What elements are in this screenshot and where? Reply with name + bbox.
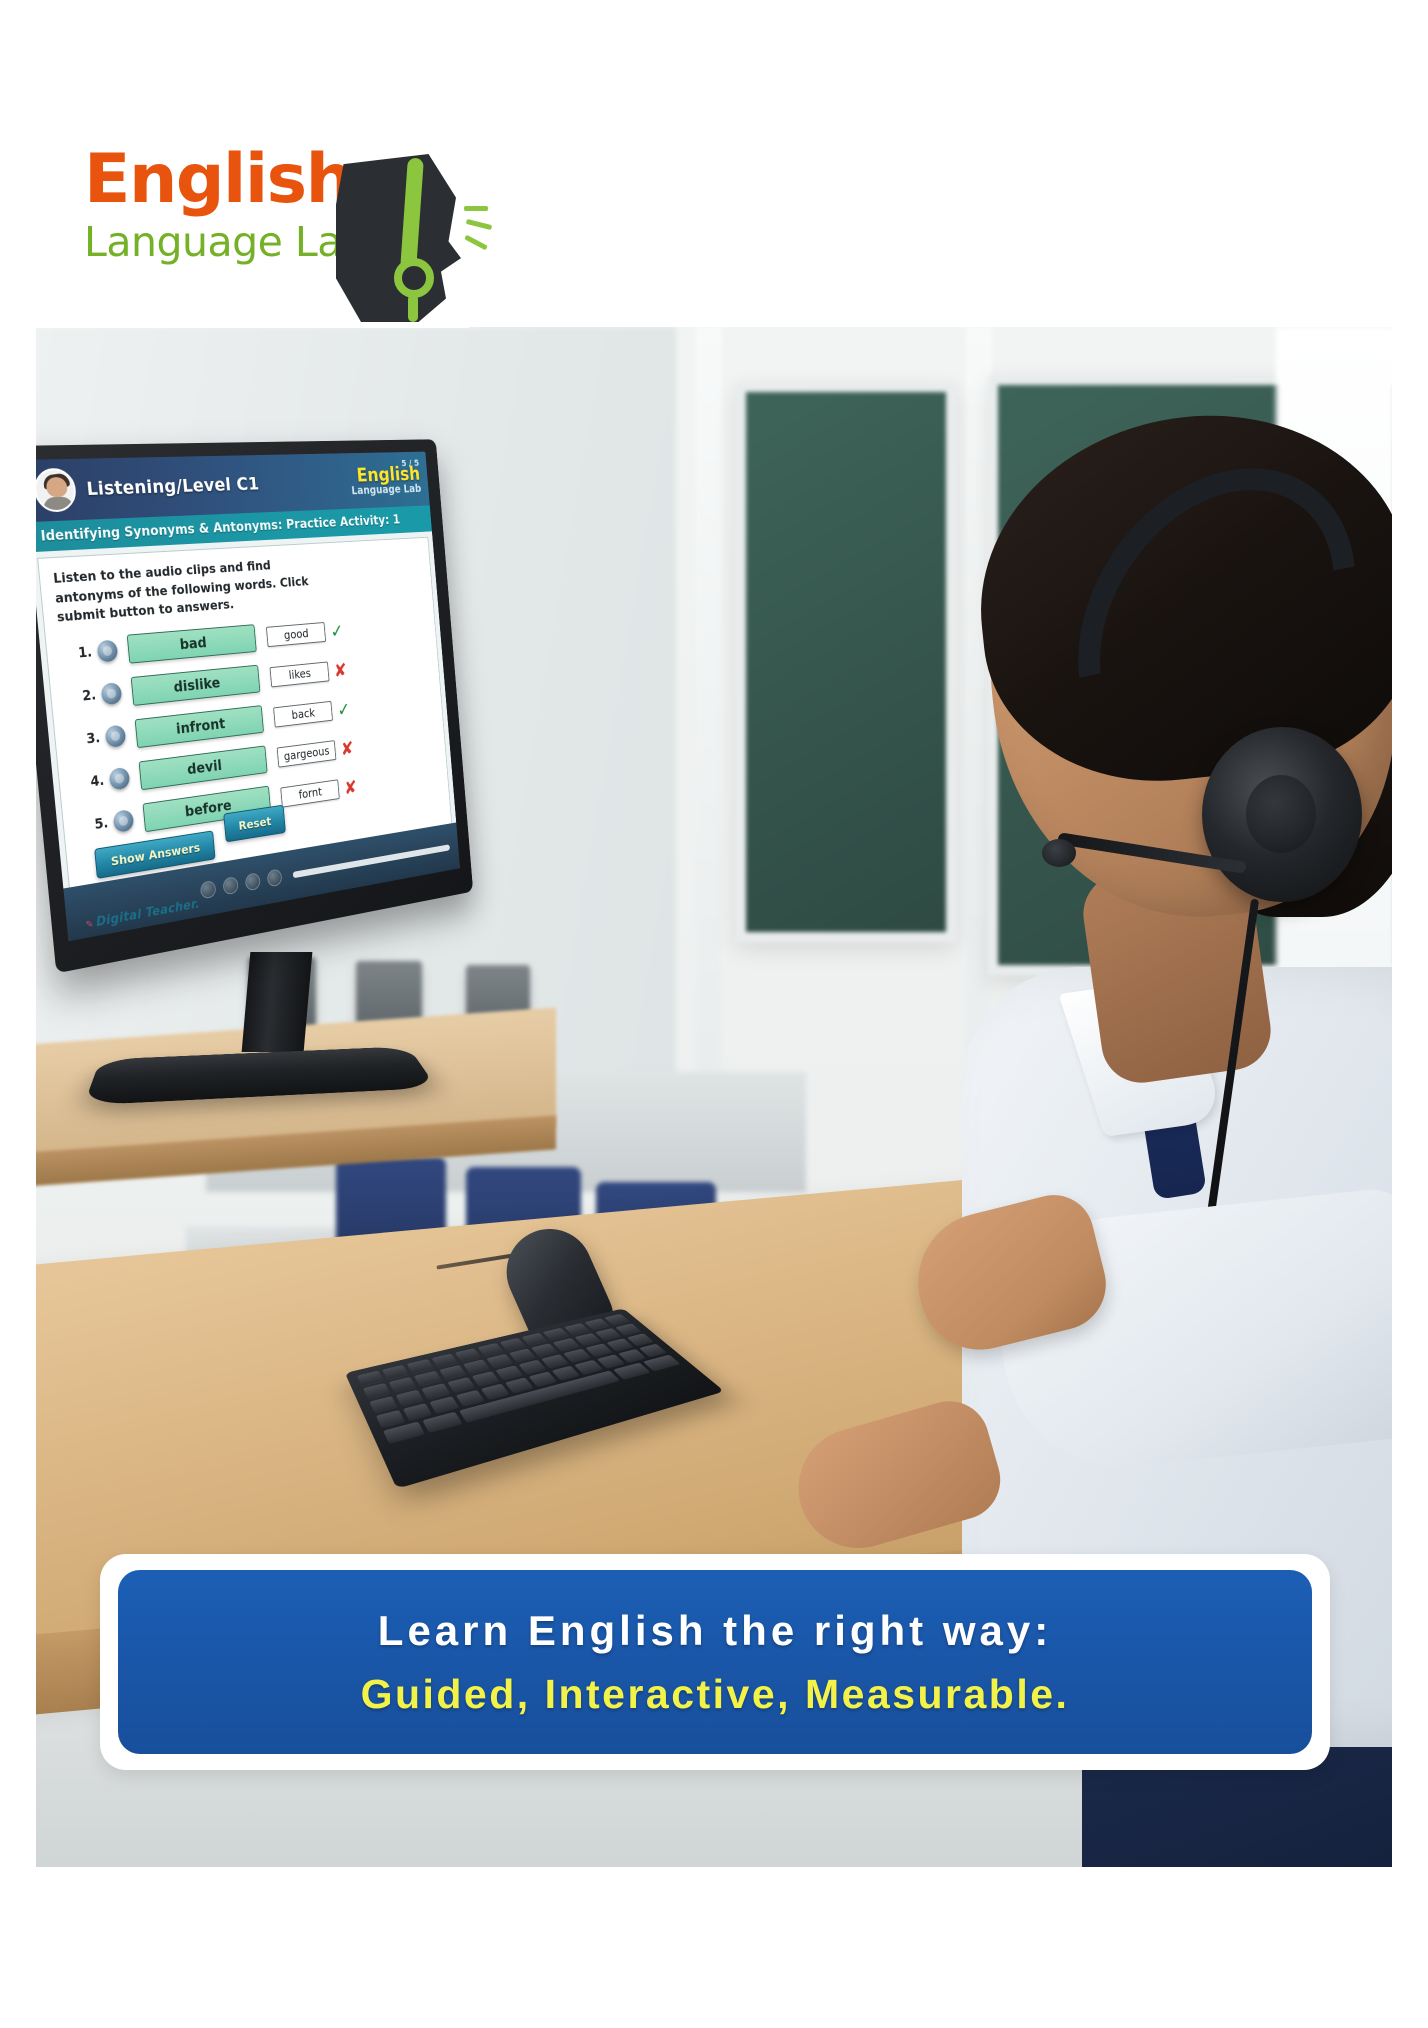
keyboard-key[interactable] bbox=[596, 1354, 624, 1368]
audio-speaker-icon[interactable] bbox=[109, 766, 131, 790]
play-icon[interactable] bbox=[222, 876, 238, 895]
question-number: 3. bbox=[68, 730, 101, 749]
prompt-word: dislike bbox=[131, 664, 261, 705]
result-incorrect-icon: ✘ bbox=[333, 660, 347, 679]
monitor-stand-neck bbox=[242, 952, 313, 1052]
audio-speaker-icon[interactable] bbox=[96, 639, 118, 662]
answer-input[interactable]: good bbox=[266, 622, 326, 647]
student-avatar-icon bbox=[36, 468, 78, 513]
forward-icon[interactable] bbox=[267, 868, 283, 887]
computer-monitor: Listening/Level C1 English Language Lab … bbox=[36, 439, 473, 973]
answer-group: fornt ✘ bbox=[280, 776, 357, 807]
audio-speaker-icon[interactable] bbox=[113, 809, 135, 833]
headset-earcup-icon bbox=[1202, 727, 1362, 902]
monitor-bezel: Listening/Level C1 English Language Lab … bbox=[36, 439, 473, 973]
result-incorrect-icon: ✘ bbox=[340, 738, 354, 757]
question-number: 5. bbox=[76, 815, 108, 835]
answer-group: good ✓ bbox=[266, 620, 344, 647]
keyboard-key[interactable] bbox=[552, 1366, 580, 1381]
answer-input[interactable]: likes bbox=[270, 661, 330, 687]
keyboard-key[interactable] bbox=[529, 1371, 557, 1386]
prompt-word: infront bbox=[135, 705, 264, 748]
answer-group: gargeous ✘ bbox=[277, 738, 355, 768]
tagline-banner: Learn English the right way: Guided, Int… bbox=[118, 1570, 1312, 1754]
progress-bar[interactable] bbox=[293, 844, 450, 878]
playback-controls bbox=[200, 868, 283, 899]
question-number: 4. bbox=[72, 773, 105, 793]
record-icon[interactable] bbox=[245, 872, 261, 891]
app-brand-logo: English Language Lab bbox=[349, 464, 421, 497]
tagline-banner-wrapper: Learn English the right way: Guided, Int… bbox=[100, 1554, 1330, 1770]
answer-input[interactable]: back bbox=[273, 701, 333, 728]
question-counter: 5 / 5 bbox=[401, 459, 420, 469]
brand-logo-badge: English Language Lab bbox=[36, 128, 528, 328]
question-number: 2. bbox=[64, 687, 97, 706]
audio-speaker-icon[interactable] bbox=[101, 682, 123, 705]
app-screen: Listening/Level C1 English Language Lab … bbox=[36, 452, 460, 942]
result-correct-icon: ✓ bbox=[337, 699, 351, 718]
headset-mic-icon bbox=[1042, 839, 1076, 867]
answer-group: back ✓ bbox=[273, 699, 351, 728]
app-brand-line2: Language Lab bbox=[351, 483, 422, 497]
watermark-mark-icon: ✎ bbox=[85, 919, 94, 931]
tagline-line2: Guided, Interactive, Measurable. bbox=[361, 1671, 1070, 1718]
rewind-icon[interactable] bbox=[200, 880, 217, 899]
answer-group: likes ✘ bbox=[270, 659, 348, 687]
answer-input[interactable]: fornt bbox=[280, 779, 339, 807]
tagline-line1: Learn English the right way: bbox=[378, 1607, 1052, 1655]
headset-head-icon bbox=[336, 154, 496, 324]
result-incorrect-icon: ✘ bbox=[343, 777, 357, 797]
audio-speaker-icon[interactable] bbox=[105, 724, 127, 748]
answer-input[interactable]: gargeous bbox=[277, 740, 337, 767]
result-correct-icon: ✓ bbox=[330, 621, 344, 640]
prompt-word: devil bbox=[139, 745, 268, 790]
keyboard-key[interactable] bbox=[574, 1360, 602, 1374]
prompt-word: bad bbox=[127, 624, 257, 663]
question-number: 1. bbox=[60, 644, 93, 662]
keyboard-key[interactable] bbox=[585, 1343, 612, 1356]
poster-root: Listening/Level C1 English Language Lab … bbox=[0, 0, 1428, 2028]
app-title: Listening/Level C1 bbox=[86, 471, 352, 500]
